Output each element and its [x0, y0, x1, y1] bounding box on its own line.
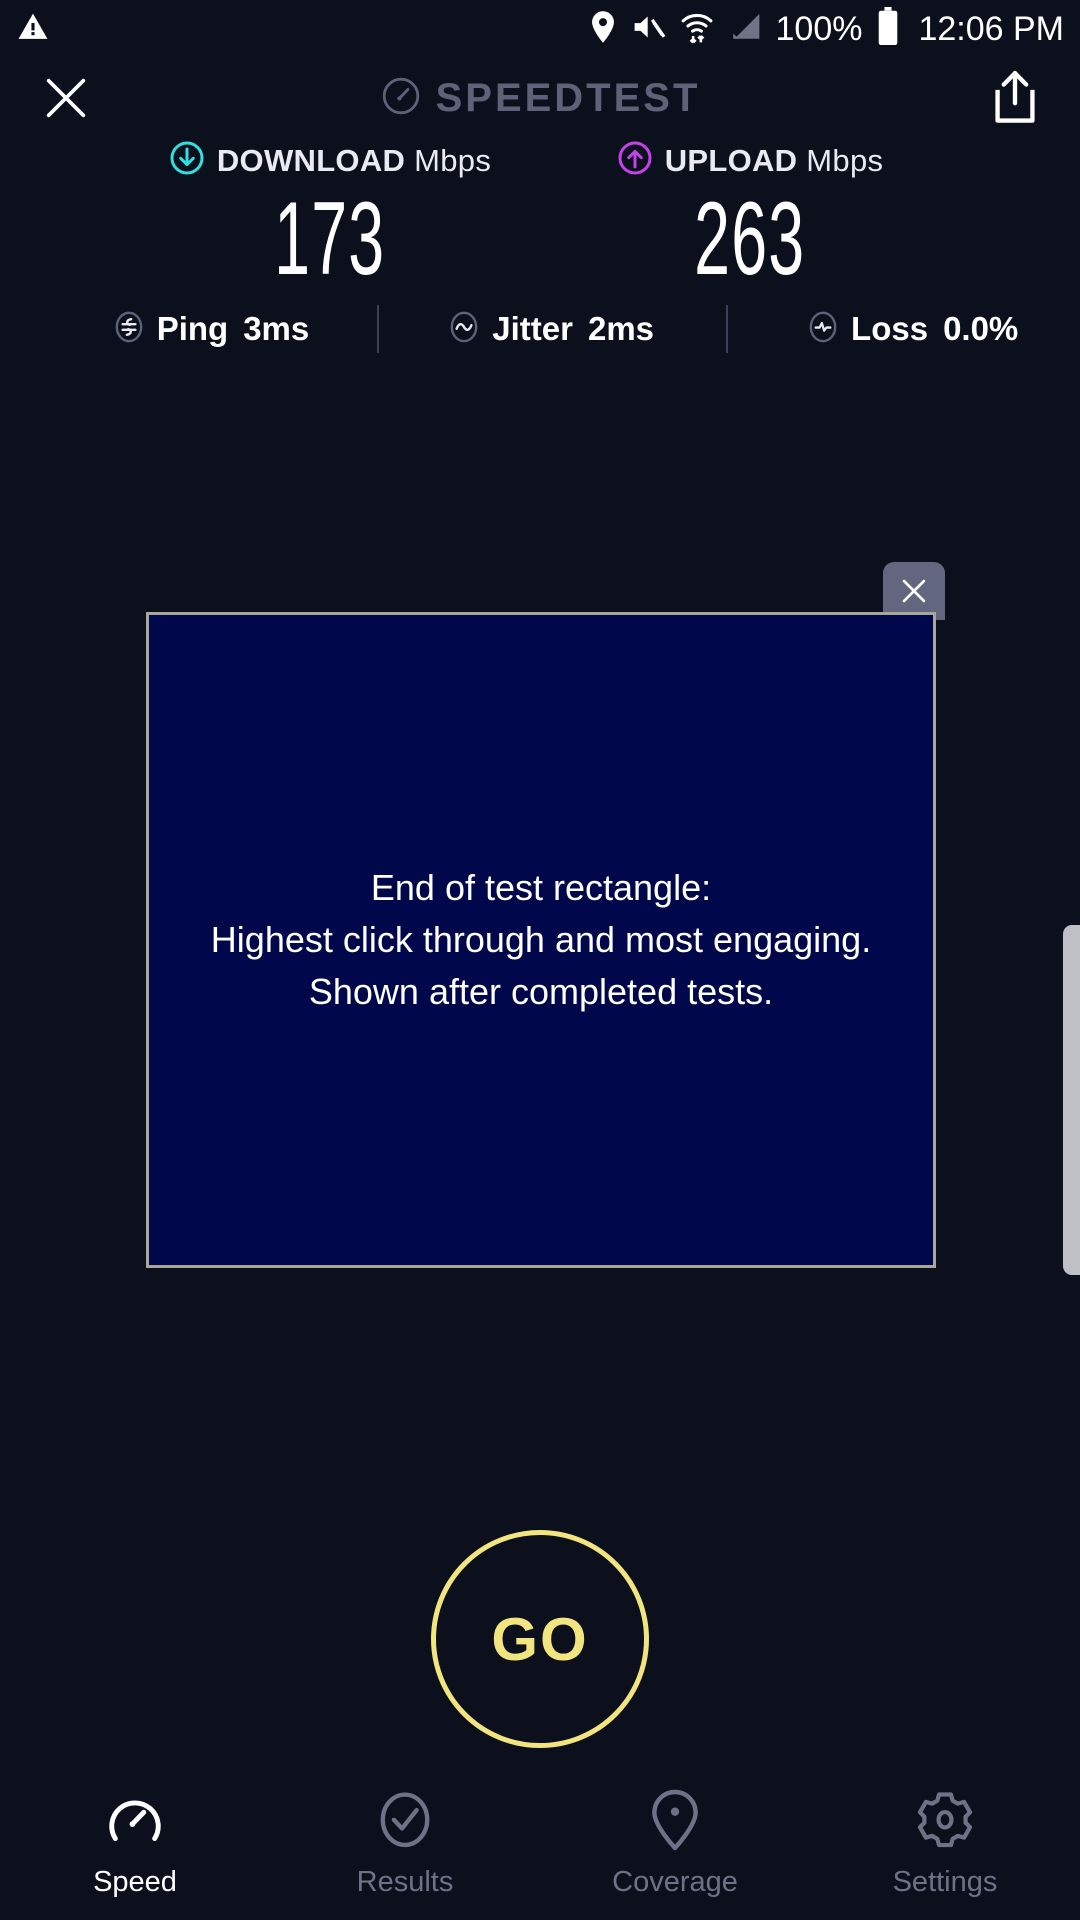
speed-results: DOWNLOAD Mbps 173 UPLOAD Mbps 263 — [0, 140, 1080, 291]
warning-triangle-icon — [16, 10, 50, 49]
close-button[interactable] — [40, 72, 92, 124]
share-button[interactable] — [990, 70, 1040, 126]
ping-icon — [112, 310, 146, 349]
gear-icon — [915, 1788, 975, 1852]
network-metrics-row: Ping 3ms Jitter 2ms Loss 0.0% — [0, 300, 1080, 358]
nav-label-results: Results — [357, 1866, 454, 1899]
download-result: DOWNLOAD Mbps 173 — [120, 140, 540, 291]
metric-loss: Loss 0.0% — [806, 310, 1018, 349]
app-header: SPEEDTEST — [0, 58, 1080, 138]
battery-full-icon — [876, 7, 900, 52]
mute-icon — [632, 11, 666, 48]
metric-divider — [726, 305, 728, 353]
loss-value: 0.0% — [943, 310, 1018, 348]
bottom-navigation: Speed Results Coverage — [0, 1780, 1080, 1920]
upload-result: UPLOAD Mbps 263 — [540, 140, 960, 291]
wifi-icon — [680, 9, 714, 50]
speedtest-gauge-icon — [380, 75, 422, 122]
advertisement-banner[interactable]: End of test rectangle: Highest click thr… — [146, 612, 936, 1268]
nav-label-coverage: Coverage — [612, 1866, 738, 1899]
status-bar: 100% 12:06 PM — [0, 0, 1080, 58]
battery-percent-label: 100% — [776, 10, 863, 49]
speedometer-icon — [104, 1788, 166, 1852]
jitter-icon — [447, 310, 481, 349]
metric-divider — [377, 305, 379, 353]
page-title: SPEEDTEST — [436, 76, 701, 121]
download-label: DOWNLOAD Mbps — [217, 143, 491, 179]
metric-jitter: Jitter 2ms — [447, 310, 654, 349]
nav-item-coverage[interactable]: Coverage — [540, 1788, 810, 1899]
map-pin-icon — [648, 1788, 702, 1852]
go-button[interactable]: GO — [431, 1530, 649, 1748]
ping-label: Ping — [157, 310, 229, 348]
status-bar-right-icons: 100% 12:06 PM — [588, 7, 1065, 52]
jitter-value: 2ms — [588, 310, 654, 348]
ad-text: End of test rectangle: Highest click thr… — [201, 862, 881, 1019]
cellular-signal-icon — [728, 11, 762, 48]
clock-label: 12:06 PM — [918, 10, 1064, 49]
upload-value: 263 — [694, 187, 805, 291]
loss-icon — [806, 310, 840, 349]
upload-label: UPLOAD Mbps — [665, 143, 884, 179]
download-arrow-icon — [169, 140, 205, 181]
nav-item-settings[interactable]: Settings — [810, 1788, 1080, 1899]
brand-logo: SPEEDTEST — [0, 75, 1080, 122]
jitter-label: Jitter — [492, 310, 573, 348]
go-button-label: GO — [491, 1605, 588, 1674]
loss-label: Loss — [851, 310, 928, 348]
metric-ping: Ping 3ms — [112, 310, 310, 349]
nav-item-results[interactable]: Results — [270, 1788, 540, 1899]
status-bar-left-icons — [16, 10, 50, 49]
check-circle-icon — [376, 1788, 434, 1852]
location-pin-icon — [588, 10, 618, 49]
speedtest-app-screen: 100% 12:06 PM SPEEDTEST — [0, 0, 1080, 1920]
nav-label-speed: Speed — [93, 1866, 177, 1899]
scrollbar-thumb[interactable] — [1063, 925, 1080, 1275]
download-value: 173 — [274, 187, 385, 291]
ping-value: 3ms — [243, 310, 309, 348]
nav-item-speed[interactable]: Speed — [0, 1788, 270, 1899]
upload-arrow-icon — [617, 140, 653, 181]
nav-label-settings: Settings — [893, 1866, 998, 1899]
